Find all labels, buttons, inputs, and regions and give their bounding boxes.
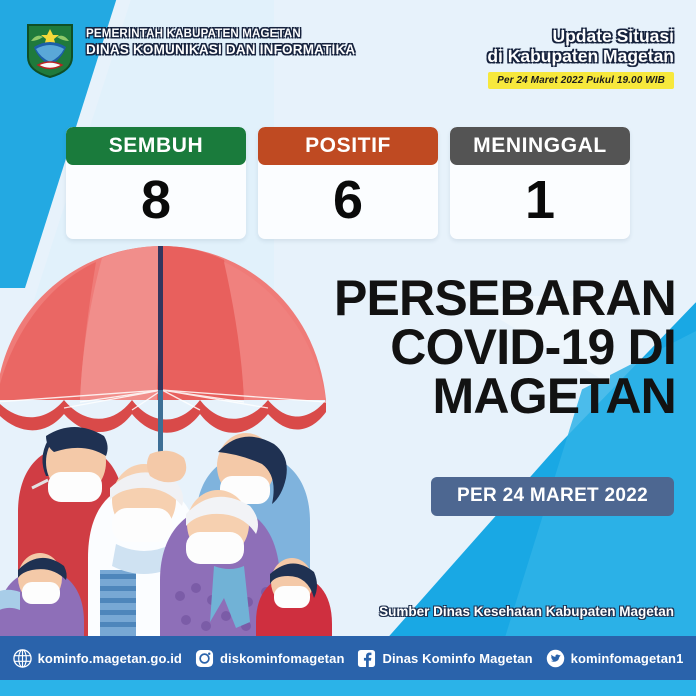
title-line-2: COVID-19 DI [284,323,676,372]
stat-value-meninggal: 1 [450,165,630,239]
update-situation-block: Update Situasi di Kabupaten Magetan Per … [487,27,674,89]
date-badge: PER 24 MARET 2022 [431,477,674,516]
stat-label-positif: POSITIF [258,127,438,165]
statistics-row: SEMBUH 8 POSITIF 6 MENINGGAL 1 [66,127,630,239]
org-line-2: DINAS KOMUNIKASI DAN INFORMATIKA [86,42,355,57]
page-title: PERSEBARAN COVID-19 DI MAGETAN [284,274,676,421]
facebook-icon [357,649,376,668]
globe-icon [13,649,32,668]
stat-card-positif: POSITIF 6 [258,127,438,239]
footer-item-website[interactable]: kominfo.magetan.go.id [13,649,182,668]
update-timestamp-badge: Per 24 Maret 2022 Pukul 19.00 WIB [488,72,674,89]
footer-social-bar: kominfo.magetan.go.id diskominfomagetan … [0,636,696,680]
update-title-line-1: Update Situasi [487,27,674,47]
stat-value-positif: 6 [258,165,438,239]
magetan-regency-coat-of-arms-icon [22,19,78,79]
footer-item-facebook[interactable]: Dinas Kominfo Magetan [357,649,532,668]
footer-label-website: kominfo.magetan.go.id [38,651,182,666]
stat-label-sembuh: SEMBUH [66,127,246,165]
infographic-poster: PEMERINTAH KABUPATEN MAGETAN DINAS KOMUN… [0,0,696,696]
stat-card-meninggal: MENINGGAL 1 [450,127,630,239]
stat-card-sembuh: SEMBUH 8 [66,127,246,239]
footer-label-twitter: kominfomagetan1 [571,651,684,666]
stat-label-meninggal: MENINGGAL [450,127,630,165]
footer-label-facebook: Dinas Kominfo Magetan [382,651,532,666]
stat-value-sembuh: 8 [66,165,246,239]
instagram-icon [195,649,214,668]
title-line-3: MAGETAN [284,372,676,421]
title-line-1: PERSEBARAN [284,274,676,323]
source-attribution: Sumber Dinas Kesehatan Kabupaten Magetan [379,604,674,619]
footer-label-instagram: diskominfomagetan [220,651,345,666]
org-line-1: PEMERINTAH KABUPATEN MAGETAN [86,28,355,41]
footer-item-instagram[interactable]: diskominfomagetan [195,649,345,668]
twitter-icon [546,649,565,668]
update-title-line-2: di Kabupaten Magetan [487,47,674,67]
footer-bottom-strip [0,680,696,696]
footer-item-twitter[interactable]: kominfomagetan1 [546,649,684,668]
organization-name: PEMERINTAH KABUPATEN MAGETAN DINAS KOMUN… [86,28,355,57]
